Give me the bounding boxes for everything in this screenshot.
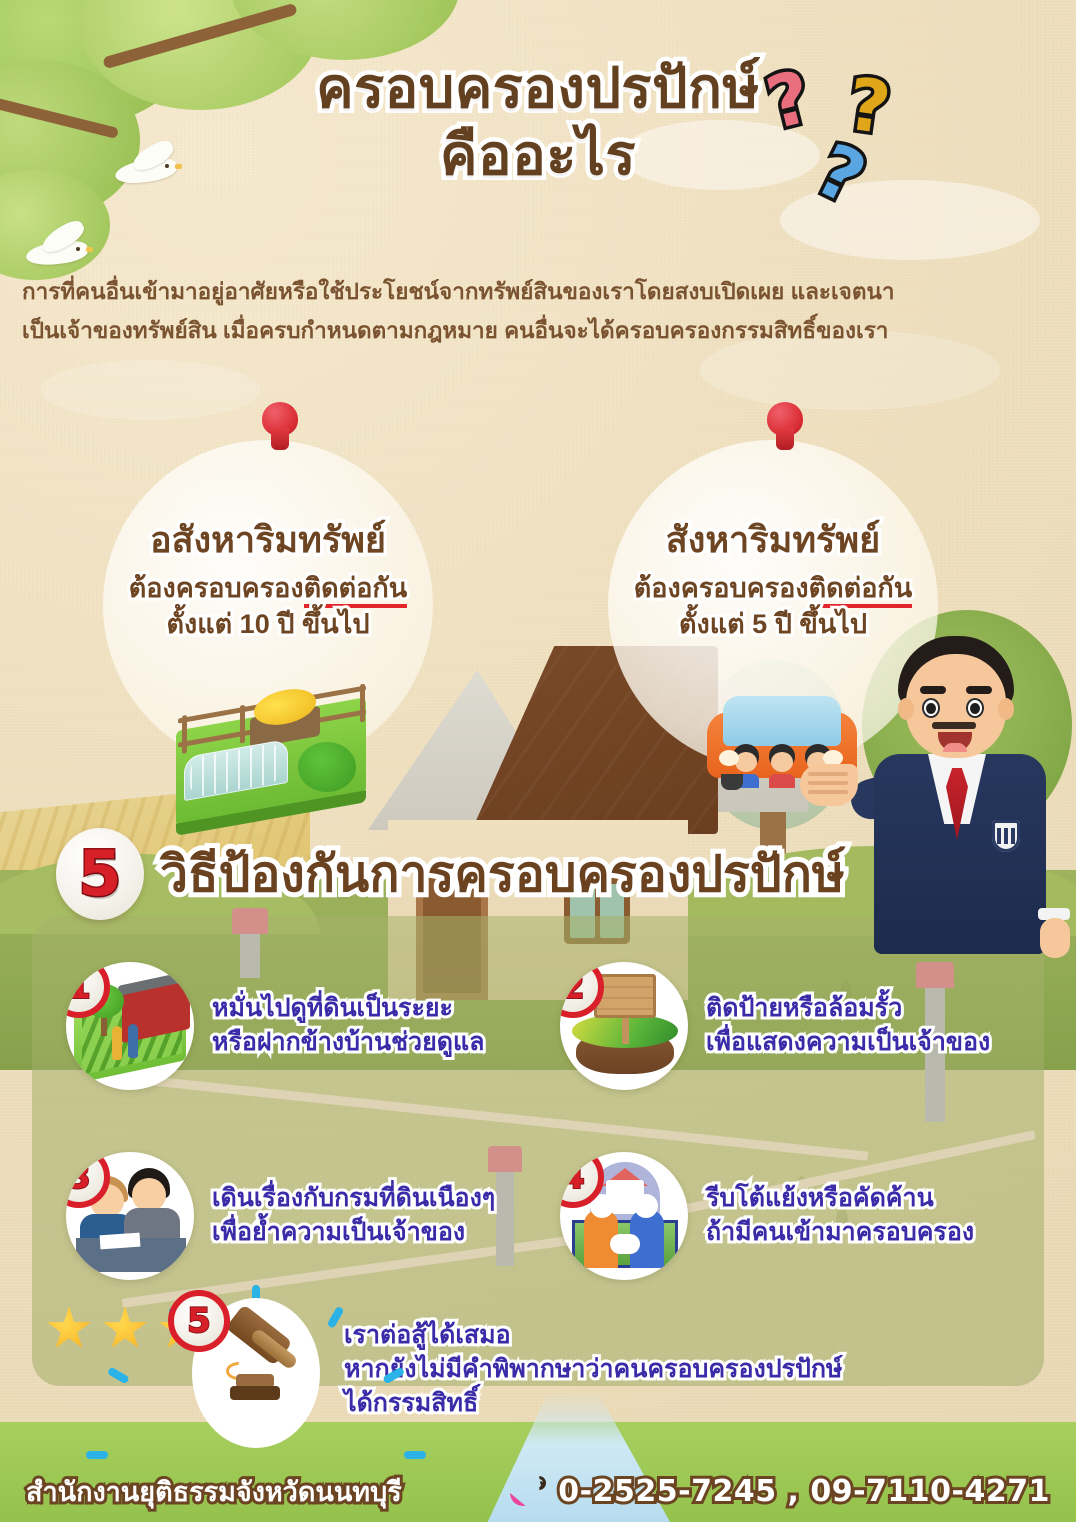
tip-line: ถ้ามีคนเข้ามาครอบครอง [706, 1216, 974, 1250]
star-icon [46, 1306, 92, 1352]
star-icon [102, 1306, 148, 1352]
footer-organization: สำนักงานยุติธรรมจังหวัดนนทบุรี [26, 1470, 402, 1513]
infographic-poster: ครอบครองปรปักษ์ คืออะไร ? ? ? การที่คนอื… [0, 0, 1076, 1522]
pushpin-icon-left [260, 402, 300, 454]
section-number-badge: 5 [56, 828, 144, 920]
tip-line: หรือฝากข้างบ้านช่วยดูแล [212, 1026, 484, 1060]
tip-line: รีบโต้แย้งหรือคัดค้าน [706, 1182, 974, 1216]
tip-item-5: 5 เราต่อสู้ได้เสมอ หากยังไม่มีคำพิพากษาว… [192, 1306, 843, 1434]
officer-character-illustration [852, 628, 1076, 948]
tip-text-2: ติดป้ายหรือล้อมรั้ว เพื่อแสดงความเป็นเจ้… [706, 992, 990, 1060]
tip-line: ติดป้ายหรือล้อมรั้ว [706, 992, 990, 1026]
intro-line-1: การที่คนอื่นเข้ามาอยู่อาศัยหรือใช้ประโยช… [22, 272, 1054, 311]
tip-icon-circle: 5 [192, 1306, 320, 1434]
pushpin-icon-right [765, 402, 805, 454]
tip-icon-circle: 3 [66, 1152, 194, 1280]
prop-sub-prefix: ต้องครอบครอง [129, 573, 304, 603]
farm-icon [176, 686, 366, 816]
question-mark-icon-red: ? [758, 54, 819, 146]
tip-line: หากยังไม่มีคำพิพากษาว่าคนครอบครองปรปักษ์ [344, 1353, 843, 1387]
tip-text-5: เราต่อสู้ได้เสมอ หากยังไม่มีคำพิพากษาว่า… [344, 1319, 843, 1420]
tip-text-1: หมั่นไปดูที่ดินเป็นระยะ หรือฝากข้างบ้านช… [212, 992, 484, 1060]
property-card-text-right: สังหาริมทรัพย์ ต้องครอบครองติดต่อกัน ตั้… [563, 520, 983, 642]
prop-sub-underlined: ติดต่อกัน [304, 573, 408, 608]
tip-item-4: 4 รีบโต้แย้งหรือคัดค้าน ถ้ามีคนเข้ามาครอ… [560, 1152, 974, 1280]
tip-line: หมั่นไปดูที่ดินเป็นระยะ [212, 992, 484, 1026]
prop-sub-underlined: ติดต่อกัน [809, 573, 913, 608]
tip-number-badge-5: 5 [168, 1290, 230, 1352]
property-title-movable: สังหาริมทรัพย์ [563, 520, 983, 560]
prop-sub-line2: ตั้งแต่ 5 ปี ขึ้นไป [679, 609, 867, 639]
pointing-hand-icon [800, 764, 858, 806]
footer-contact: 0-2525-7245 , 09-7110-4271 [508, 1474, 1050, 1509]
tip-line: เราต่อสู้ได้เสมอ [344, 1319, 843, 1353]
tip-item-2: 2 ติดป้ายหรือล้อมรั้ว เพื่อแสดงความเป็นเ… [560, 962, 990, 1090]
tip-line: เพื่อย้ำความเป็นเจ้าของ [212, 1216, 495, 1250]
tip-icon-circle: 1 [66, 962, 194, 1090]
cloud-decoration [40, 360, 260, 420]
section-heading-text: วิธีป้องกันการครอบครองปรปักษ์ [160, 849, 845, 899]
uniform-badge-icon [992, 820, 1020, 852]
footer-phone-number: 0-2525-7245 , 09-7110-4271 [558, 1474, 1050, 1509]
question-mark-icon-blue: ? [804, 127, 878, 221]
tip-text-3: เดินเรื่องกับกรมที่ดินเนืองๆ เพื่อย้ำควา… [212, 1182, 495, 1250]
tip-line: ได้กรรมสิทธิ์ [344, 1387, 843, 1421]
tip-line: เพื่อแสดงความเป็นเจ้าของ [706, 1026, 990, 1060]
intro-paragraph: การที่คนอื่นเข้ามาอยู่อาศัยหรือใช้ประโยช… [22, 272, 1054, 351]
question-marks-group: ? ? ? [762, 62, 972, 242]
property-card-text-left: อสังหาริมทรัพย์ ต้องครอบครองติดต่อกัน ตั… [58, 520, 478, 642]
property-title-immovable: อสังหาริมทรัพย์ [58, 520, 478, 560]
property-sub-immovable: ต้องครอบครองติดต่อกัน ตั้งแต่ 10 ปี ขึ้น… [58, 570, 478, 643]
prop-sub-prefix: ต้องครอบครอง [634, 573, 809, 603]
tip-text-4: รีบโต้แย้งหรือคัดค้าน ถ้ามีคนเข้ามาครอบค… [706, 1182, 974, 1250]
tip-item-1: 1 หมั่นไปดูที่ดินเป็นระยะ หรือฝากข้างบ้า… [66, 962, 484, 1090]
tip-item-3: 3 เดินเรื่องกับกรมที่ดินเนืองๆ เพื่อย้ำค… [66, 1152, 495, 1280]
footer-bar: สำนักงานยุติธรรมจังหวัดนนทบุรี 0-2525-72… [0, 1460, 1076, 1522]
tip-icon-circle: 4 [560, 1152, 688, 1280]
tip-line: เดินเรื่องกับกรมที่ดินเนืองๆ [212, 1182, 495, 1216]
prop-sub-line2: ตั้งแต่ 10 ปี ขึ้นไป [167, 609, 370, 639]
phone-icon [508, 1474, 546, 1508]
section-number: 5 [78, 843, 121, 905]
section-heading: 5 วิธีป้องกันการครอบครองปรปักษ์ [56, 828, 845, 920]
tip-icon-circle: 2 [560, 962, 688, 1090]
intro-line-2: เป็นเจ้าของทรัพย์สิน เมื่อครบกำหนดตามกฎห… [22, 311, 1054, 350]
